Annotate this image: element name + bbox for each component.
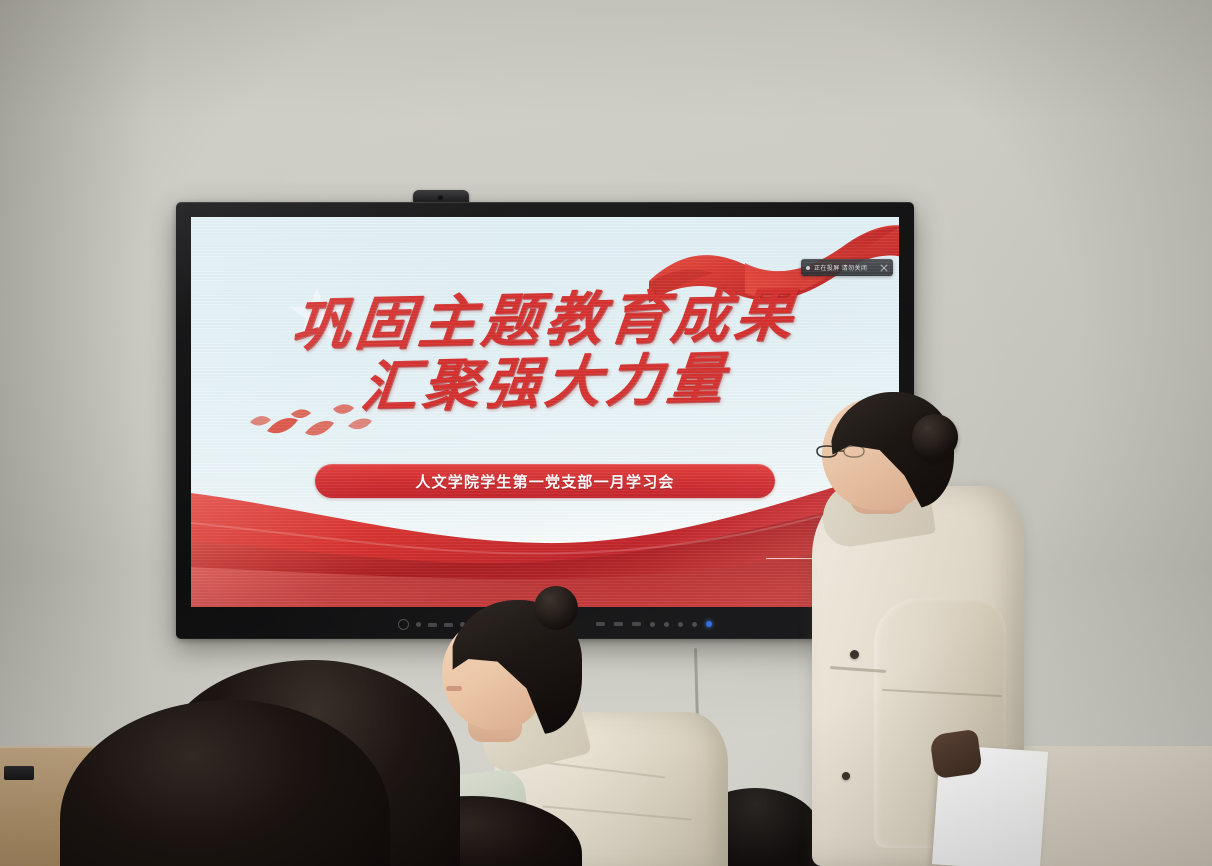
close-icon[interactable] (880, 264, 888, 272)
presenter-jacket-button (850, 650, 859, 659)
scene-root: 正在投屏 请勿关闭 巩固主题教育成果 汇聚强大力量 人文学院学生第一党支部一月学… (0, 0, 1212, 866)
presenter-jacket-button (842, 772, 850, 780)
desk-object (4, 766, 34, 780)
presenter-hand (929, 729, 983, 779)
camera-lens-icon (437, 195, 444, 201)
foreground-hair-a (60, 700, 390, 866)
person-presenter (786, 392, 1046, 866)
person-foreground-a (60, 700, 390, 866)
toast-message: 正在投屏 请勿关闭 (814, 263, 876, 272)
toast-status-dot-icon (806, 266, 810, 270)
seated-hair-bun (534, 586, 578, 630)
presenter-hair-bun (912, 414, 958, 460)
screen-toast-notification[interactable]: 正在投屏 请勿关闭 (801, 259, 893, 276)
headline-line-1: 巩固主题教育成果 (191, 284, 899, 357)
